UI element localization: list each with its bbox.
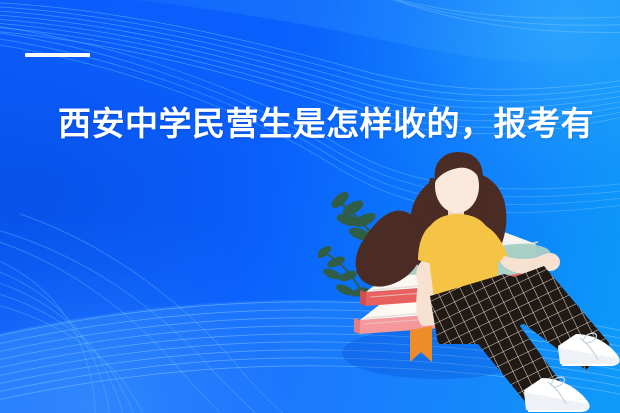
promo-banner: 西安中学民营生是怎样收的，报考有 [0,0,620,413]
page-title: 西安中学民营生是怎样收的，报考有 [58,102,563,146]
illustration-svg [318,148,620,413]
illustration-woman-on-books [318,148,620,413]
accent-rule [25,53,90,57]
